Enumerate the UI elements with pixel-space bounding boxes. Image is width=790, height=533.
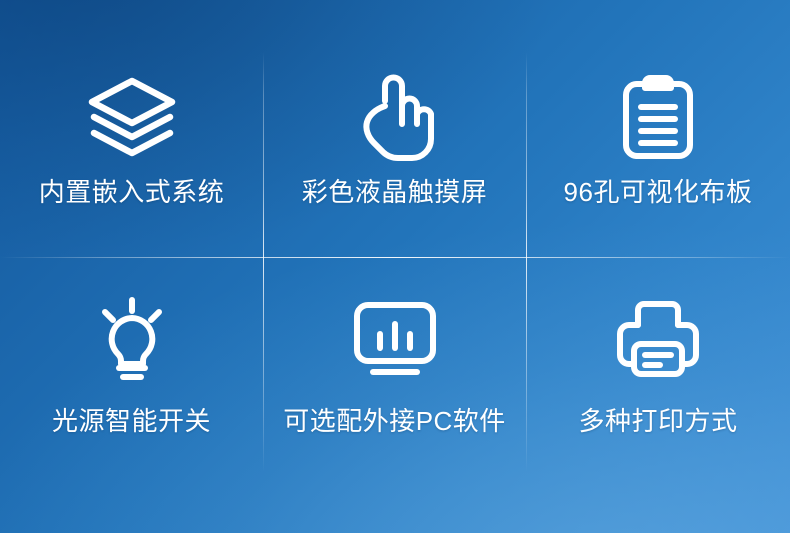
feature-label: 多种打印方式 [578, 407, 737, 436]
feature-label: 可选配外接PC软件 [283, 407, 506, 436]
feature-cell-multiple-print-methods: 多种打印方式 [526, 257, 790, 533]
monitor-chart-icon [263, 293, 526, 385]
lightbulb-icon [0, 293, 263, 385]
feature-cell-optional-external-pc-software: 可选配外接PC软件 [263, 257, 526, 533]
feature-label: 光源智能开关 [52, 407, 211, 436]
clipboard-icon [526, 74, 790, 160]
feature-cell-light-source-smart-switch: 光源智能开关 [0, 257, 263, 533]
feature-cell-96-well-visual-plate: 96孔可视化布板 [526, 0, 790, 257]
feature-banner: 内置嵌入式系统 彩色液晶触摸屏 [0, 0, 790, 533]
feature-grid: 内置嵌入式系统 彩色液晶触摸屏 [0, 0, 790, 533]
feature-label: 彩色液晶触摸屏 [302, 178, 488, 207]
feature-cell-color-lcd-touchscreen: 彩色液晶触摸屏 [263, 0, 526, 257]
feature-label: 内置嵌入式系统 [39, 178, 225, 207]
feature-cell-embedded-system: 内置嵌入式系统 [0, 0, 263, 257]
layers-icon [0, 74, 263, 160]
printer-icon [526, 293, 790, 385]
feature-label: 96孔可视化布板 [564, 178, 753, 207]
touch-hand-icon [263, 74, 526, 160]
